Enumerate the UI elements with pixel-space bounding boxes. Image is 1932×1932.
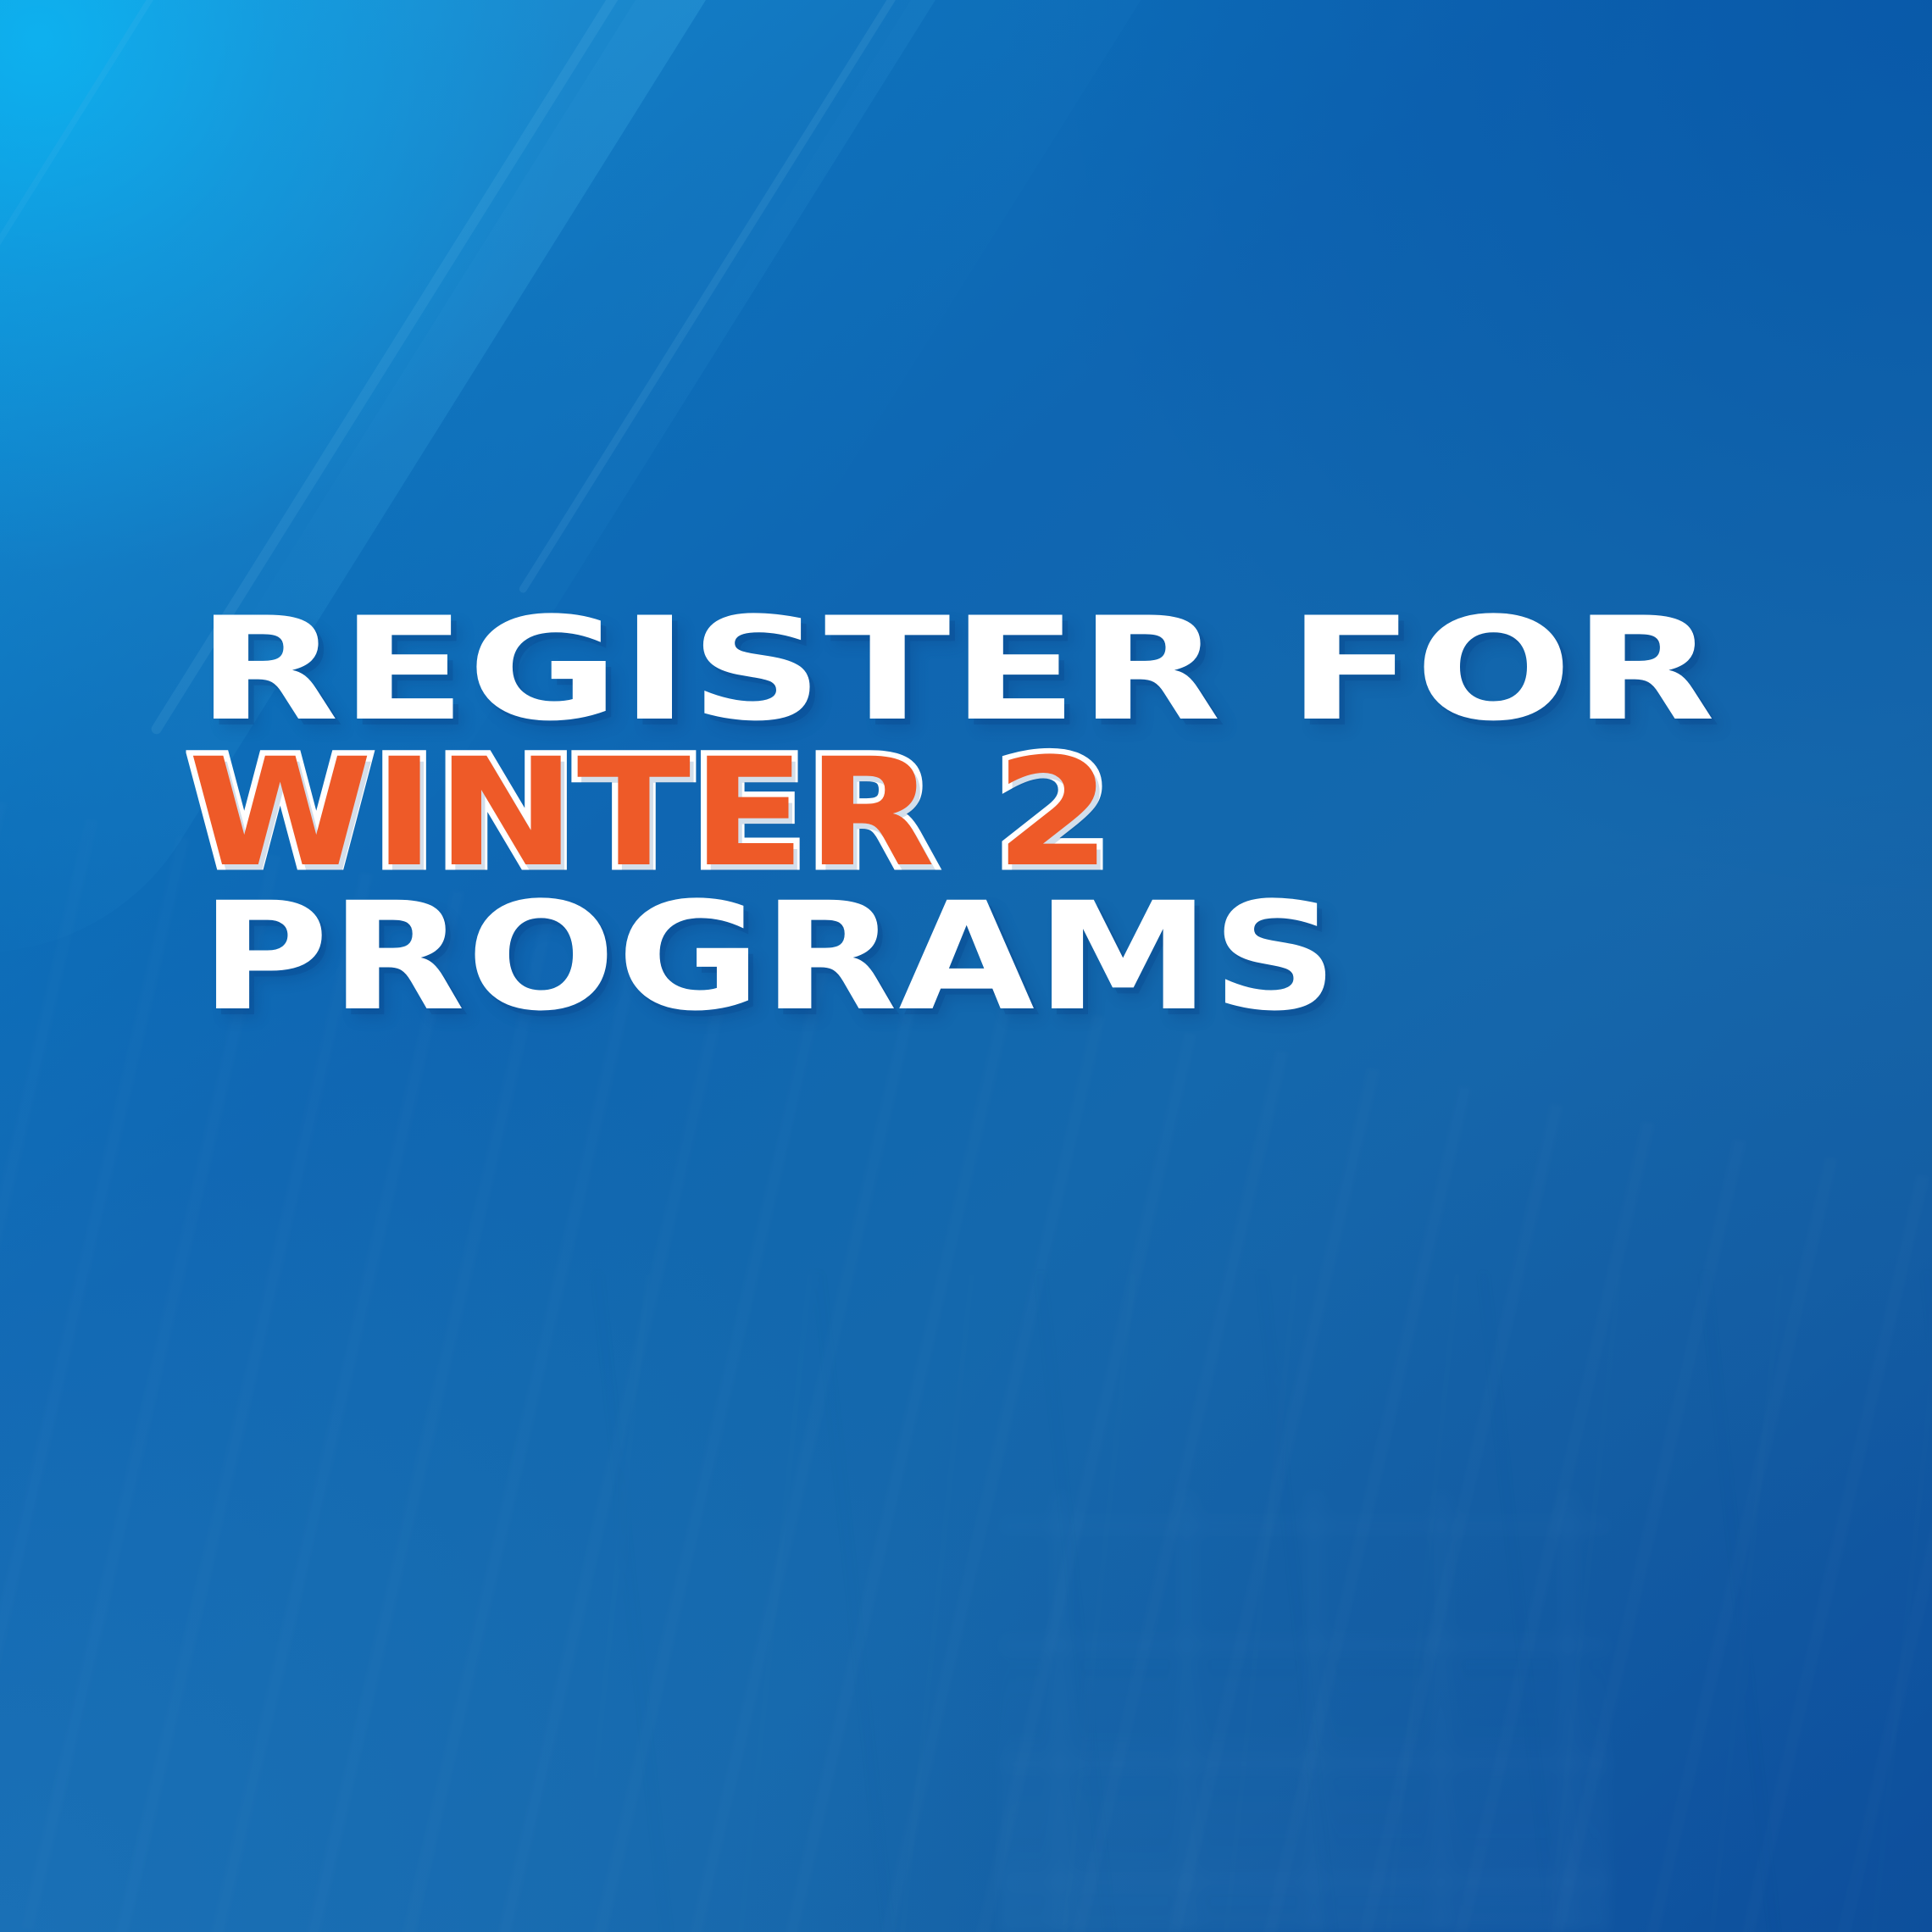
headline-line-programs: PROGRAMS <box>200 883 1339 1032</box>
headline-line-register-for: REGISTER FOR <box>197 598 1717 741</box>
faint-block-texture <box>1000 1491 1610 1932</box>
headline-line-winter-2: WINTER 2 <box>188 739 1112 888</box>
promo-poster: REGISTER FOR WINTER 2 PROGRAMS <box>0 0 1932 1932</box>
